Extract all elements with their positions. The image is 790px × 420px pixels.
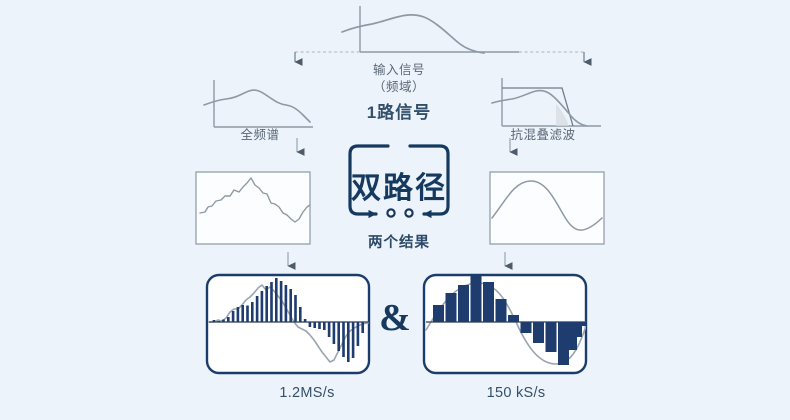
- chart-input-spectrum: [342, 6, 519, 53]
- chart-anti-alias: [492, 78, 601, 126]
- anti-alias-filter-label: 抗混叠滤波: [510, 124, 575, 143]
- input-signal-label-line2: （频域）: [373, 79, 425, 96]
- sample-rate-slow: 150 kS/s: [487, 385, 546, 401]
- ampersand-joiner: &: [379, 296, 411, 340]
- one-channel-label: 1路信号: [367, 98, 431, 123]
- two-results-label: 两个结果: [368, 231, 430, 252]
- result-card-slow: [424, 275, 588, 373]
- full-spectrum-label: 全频谱: [240, 124, 279, 143]
- diagram-canvas: 输入信号 （频域） 1路信号 全频谱 抗混叠滤波 双路径 两个结果 & 1.2M…: [0, 0, 790, 420]
- waveform-box-full-spectrum: [196, 172, 310, 244]
- connector-split-top: [295, 52, 584, 62]
- chart-full-spectrum: [204, 80, 313, 127]
- connector-to-result-cards: [288, 252, 505, 266]
- waveform-box-filtered: [490, 172, 604, 244]
- sample-rate-fast: 1.2MS/s: [279, 385, 334, 401]
- input-signal-label: 输入信号 （频域）: [373, 62, 425, 96]
- result-card-fast: [207, 275, 369, 373]
- connector-to-waveform-boxes: [297, 138, 510, 152]
- dual-path-badge-text: 双路径: [351, 163, 447, 207]
- input-signal-label-line1: 输入信号: [373, 62, 425, 79]
